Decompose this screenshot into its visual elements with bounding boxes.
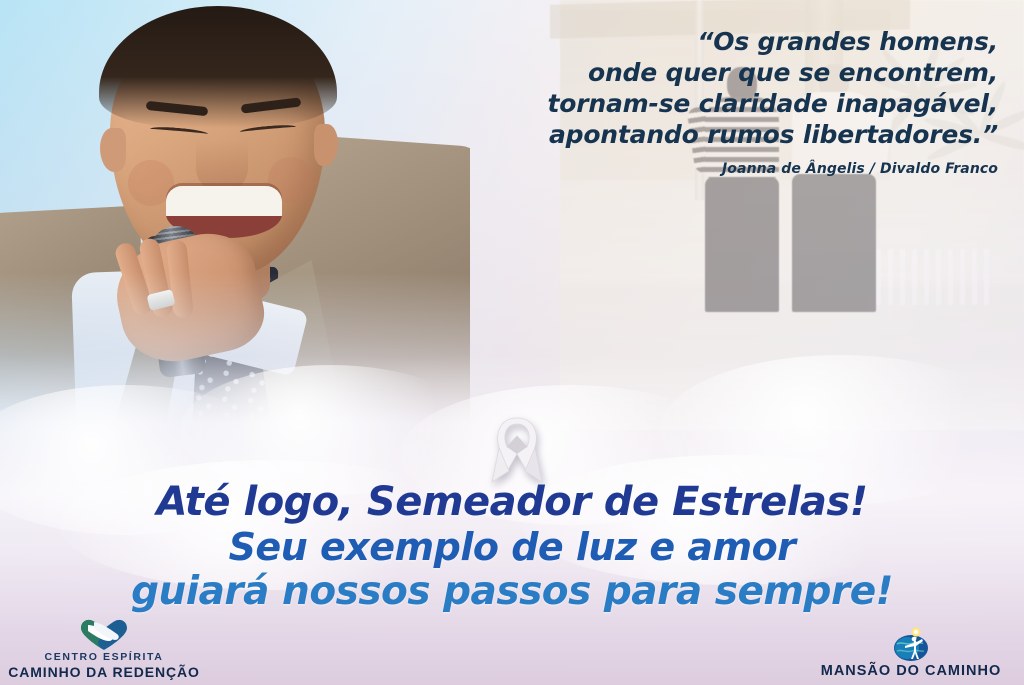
memorial-poster: “Os grandes homens, onde quer que se enc… bbox=[0, 0, 1024, 685]
logo-mansao-do-caminho[interactable]: MANSÃO DO CAMINHO bbox=[808, 627, 1014, 680]
portrait-divaldo-franco bbox=[0, 0, 470, 440]
headline-block: Até logo, Semeador de Estrelas! Seu exem… bbox=[0, 482, 1024, 611]
quote-line-2: onde quer que se encontrem, bbox=[438, 57, 998, 88]
logo-right-line-1: MANSÃO DO CAMINHO bbox=[808, 663, 1014, 680]
logo-centro-espirita[interactable]: CENTRO ESPÍRITA CAMINHO DA REDENÇÃO bbox=[6, 615, 202, 680]
logo-left-line-1: CENTRO ESPÍRITA bbox=[6, 651, 202, 664]
headline-line-3: guiará nossos passos para sempre! bbox=[0, 572, 1024, 611]
heart-hands-icon bbox=[6, 615, 202, 651]
hair bbox=[99, 6, 337, 128]
quote-block: “Os grandes homens, onde quer que se enc… bbox=[438, 26, 998, 177]
logo-left-line-2: CAMINHO DA REDENÇÃO bbox=[6, 664, 202, 680]
quote-line-4: apontando rumos libertadores.” bbox=[438, 119, 998, 150]
nose bbox=[196, 140, 248, 192]
quote-attribution: Joanna de Ângelis / Divaldo Franco bbox=[438, 161, 998, 177]
mourning-ribbon-icon bbox=[486, 408, 548, 486]
ear-left bbox=[100, 128, 126, 172]
scene-fence bbox=[864, 249, 994, 305]
quote-line-1: “Os grandes homens, bbox=[438, 26, 998, 57]
globe-figure-torch-icon bbox=[808, 627, 1014, 663]
quote-line-3: tornam-se claridade inapagável, bbox=[438, 88, 998, 119]
headline-line-1: Até logo, Semeador de Estrelas! bbox=[0, 482, 1024, 522]
headline-line-2: Seu exemplo de luz e amor bbox=[0, 528, 1024, 566]
